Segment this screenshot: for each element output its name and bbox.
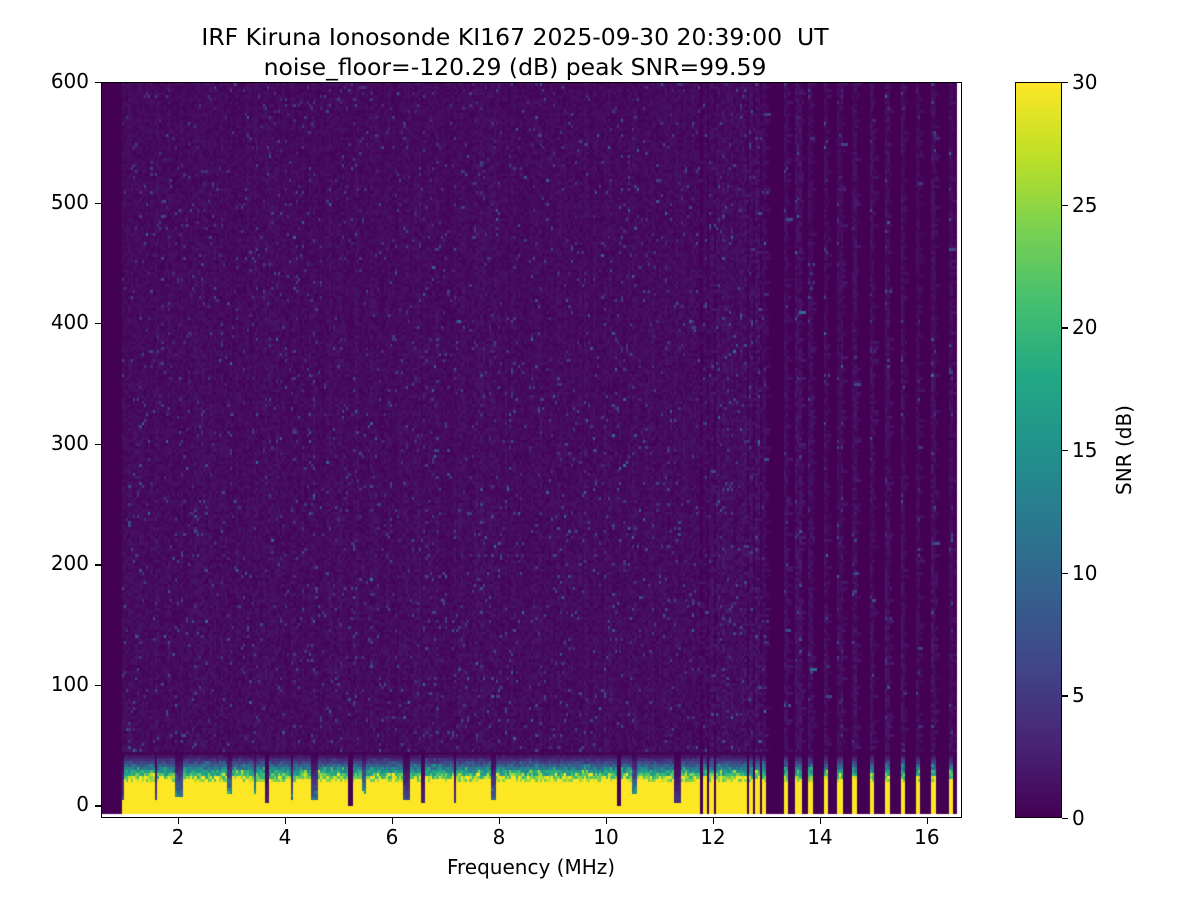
colorbar-gradient [1016,83,1061,817]
colorbar-tick-mark [1062,327,1068,328]
x-axis-label: Frequency (MHz) [447,855,615,879]
y-tick-mark [95,564,101,565]
colorbar-tick-mark [1062,450,1068,451]
colorbar-tick-label: 0 [1072,806,1085,830]
x-tick-mark [820,818,821,824]
colorbar [1015,82,1062,818]
ionogram-plot-area [101,82,962,818]
x-tick-mark [285,818,286,824]
y-tick-mark [95,203,101,204]
x-tick-label: 4 [279,825,292,849]
colorbar-tick-mark [1062,695,1068,696]
x-tick-mark [713,818,714,824]
ionogram-heatmap [102,83,960,816]
x-tick-label: 6 [386,825,399,849]
y-tick-label: 300 [20,431,89,455]
x-tick-label: 14 [807,825,832,849]
x-tick-label: 12 [700,825,725,849]
x-tick-mark [606,818,607,824]
colorbar-tick-label: 30 [1072,70,1097,94]
x-tick-label: 10 [593,825,618,849]
y-tick-label: 600 [20,69,89,93]
y-tick-mark [95,82,101,83]
y-tick-mark [95,323,101,324]
y-tick-label: 0 [20,792,89,816]
x-tick-mark [392,818,393,824]
colorbar-label: SNR (dB) [1112,405,1136,495]
colorbar-tick-mark [1062,82,1068,83]
colorbar-tick-label: 5 [1072,683,1085,707]
colorbar-tick-label: 20 [1072,315,1097,339]
x-tick-label: 8 [493,825,506,849]
y-tick-mark [95,685,101,686]
y-tick-mark [95,805,101,806]
title-line-2: noise_floor=-120.29 (dB) peak SNR=99.59 [0,52,1030,82]
y-tick-mark [95,444,101,445]
colorbar-tick-mark [1062,205,1068,206]
colorbar-tick-label: 15 [1072,438,1097,462]
colorbar-tick-mark [1062,818,1068,819]
colorbar-tick-label: 25 [1072,193,1097,217]
x-tick-label: 2 [172,825,185,849]
x-tick-mark [927,818,928,824]
colorbar-tick-label: 10 [1072,561,1097,585]
y-tick-label: 500 [20,190,89,214]
colorbar-tick-mark [1062,573,1068,574]
x-tick-mark [178,818,179,824]
x-tick-mark [499,818,500,824]
y-tick-label: 400 [20,310,89,334]
x-tick-label: 16 [914,825,939,849]
title-line-1: IRF Kiruna Ionosonde KI167 2025-09-30 20… [0,22,1030,52]
y-tick-label: 200 [20,551,89,575]
y-tick-label: 100 [20,672,89,696]
chart-title: IRF Kiruna Ionosonde KI167 2025-09-30 20… [0,22,1030,82]
